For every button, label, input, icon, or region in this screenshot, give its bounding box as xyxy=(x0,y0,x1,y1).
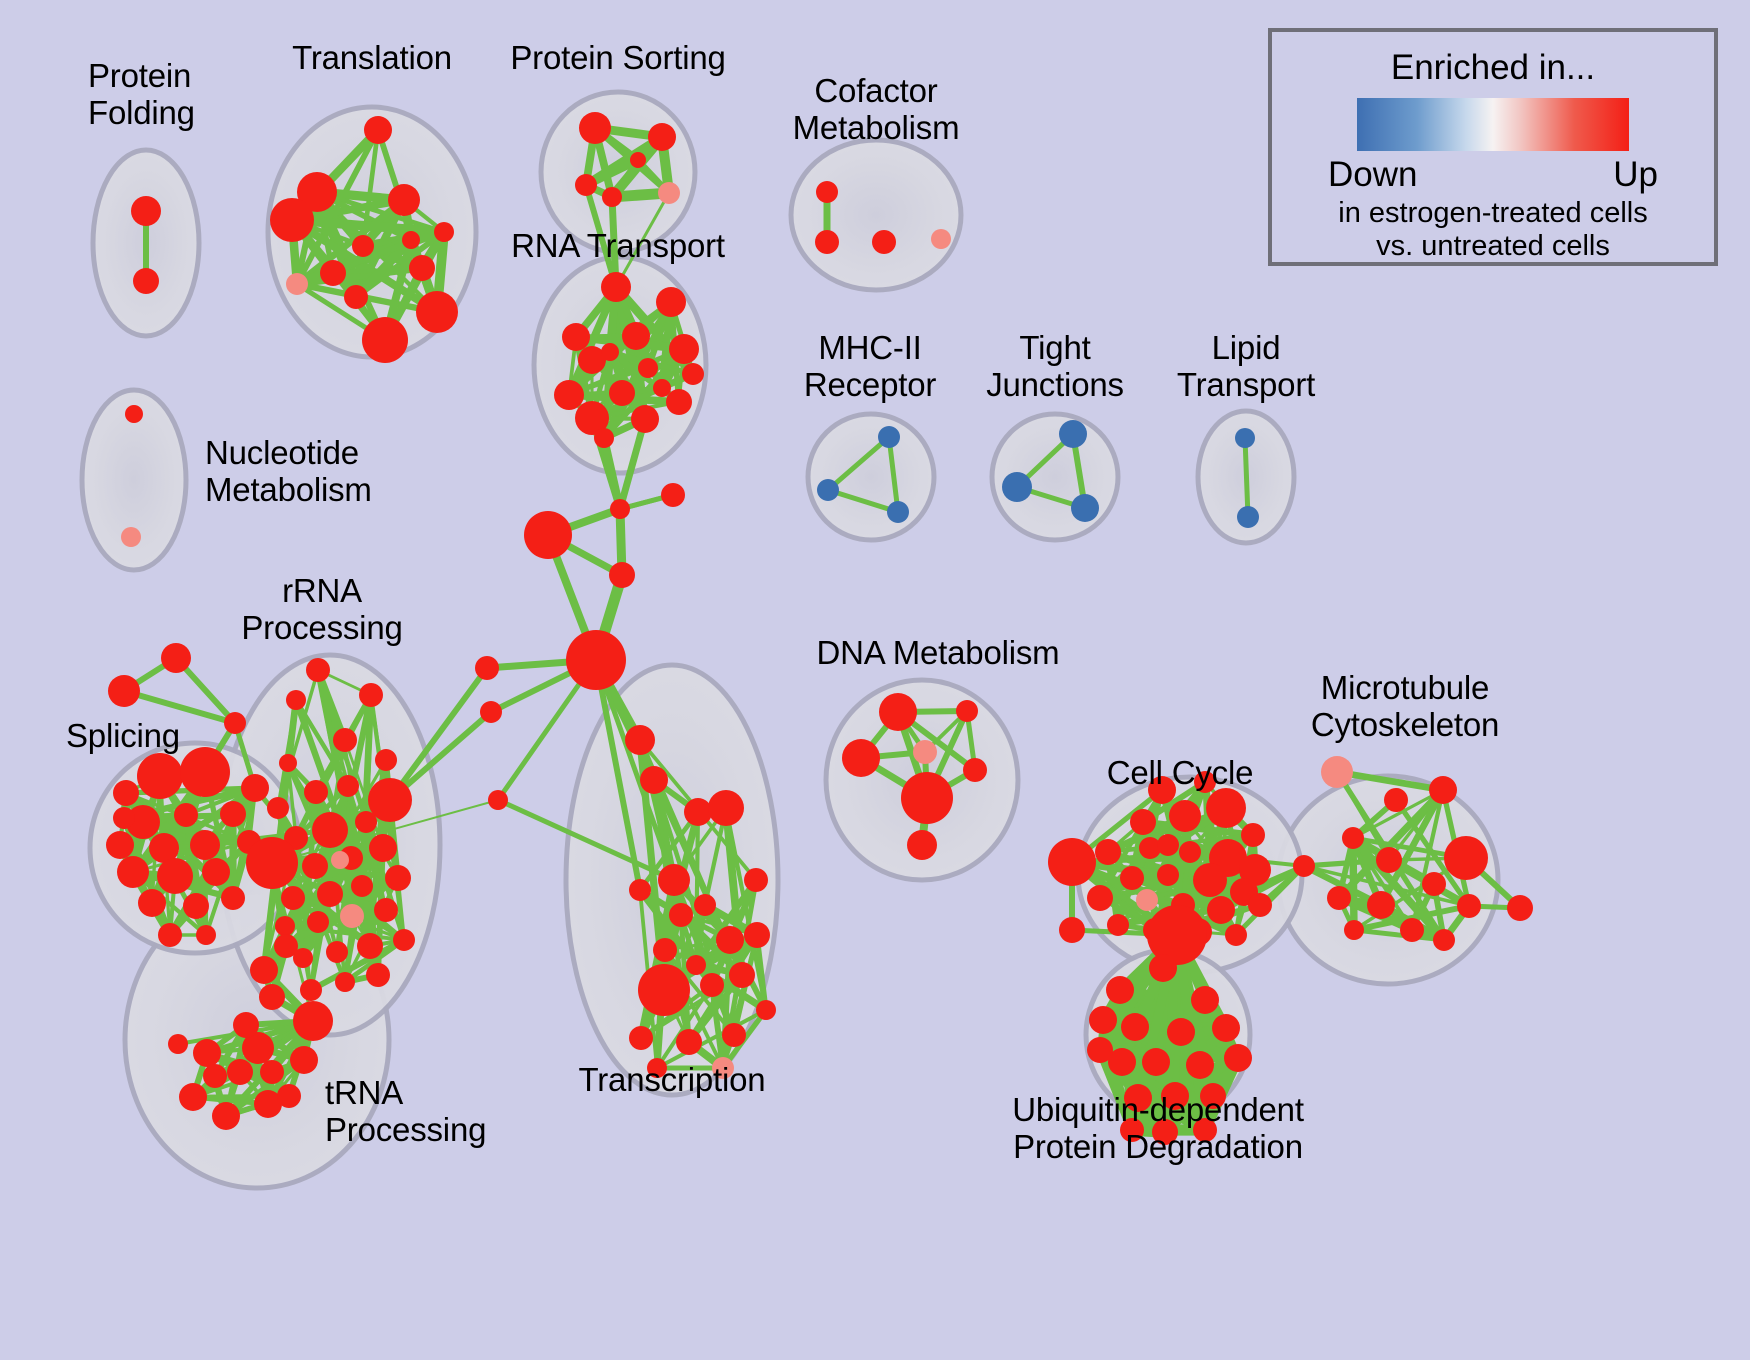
cluster-label-cofactor-metabolism: Cofactor Metabolism xyxy=(793,73,960,147)
network-node xyxy=(1241,823,1265,847)
network-node xyxy=(416,291,458,333)
network-node xyxy=(374,898,398,922)
network-node xyxy=(121,527,141,547)
network-node xyxy=(602,187,622,207)
network-node xyxy=(1087,885,1113,911)
network-node xyxy=(203,1064,227,1088)
network-node xyxy=(601,272,631,302)
legend-title: Enriched in... xyxy=(1391,48,1595,88)
network-node xyxy=(1107,914,1129,936)
network-node xyxy=(317,881,343,907)
network-node xyxy=(117,856,149,888)
network-node xyxy=(658,182,680,204)
network-node xyxy=(202,858,230,886)
network-node xyxy=(744,868,768,892)
network-node xyxy=(488,790,508,810)
network-node xyxy=(312,812,348,848)
network-node xyxy=(1433,929,1455,951)
network-node xyxy=(1059,917,1085,943)
network-node xyxy=(653,938,677,962)
cluster-label-ubiquitin-protein-degradation: Ubiquitin-dependent Protein Degradation xyxy=(1012,1092,1304,1166)
network-node xyxy=(1293,855,1315,877)
network-node xyxy=(878,426,900,448)
legend-caption: in estrogen-treated cells vs. untreated … xyxy=(1338,197,1648,262)
network-node xyxy=(956,700,978,722)
network-node xyxy=(293,1001,333,1041)
network-node xyxy=(366,963,390,987)
network-node xyxy=(656,287,686,317)
cluster-label-microtubule-cytoskeleton: Microtubule Cytoskeleton xyxy=(1311,670,1499,744)
cluster-hull-cofactor-metabolism xyxy=(791,140,961,290)
network-node xyxy=(183,893,209,919)
network-node xyxy=(1342,827,1364,849)
cluster-label-mhc-ii-receptor: MHC-II Receptor xyxy=(804,330,936,404)
cluster-label-protein-folding: Protein Folding xyxy=(88,58,195,132)
network-node xyxy=(708,790,744,826)
network-node xyxy=(609,562,635,588)
cluster-label-trna-processing: tRNA Processing xyxy=(325,1075,486,1149)
network-node xyxy=(270,198,314,242)
network-node xyxy=(1321,756,1353,788)
network-node xyxy=(676,1029,702,1055)
network-node xyxy=(369,834,397,862)
network-node xyxy=(281,886,305,910)
network-node xyxy=(744,922,770,948)
network-node xyxy=(212,1102,240,1130)
network-node xyxy=(1191,986,1219,1014)
network-node xyxy=(756,1000,776,1020)
network-node xyxy=(1225,924,1247,946)
network-node xyxy=(1087,1037,1113,1063)
network-node xyxy=(1048,838,1096,886)
network-node xyxy=(340,904,364,928)
network-node xyxy=(106,831,134,859)
network-node xyxy=(279,754,297,772)
network-node xyxy=(625,725,655,755)
network-node xyxy=(138,889,166,917)
network-node xyxy=(669,903,693,927)
network-node xyxy=(729,962,755,988)
network-node xyxy=(682,363,704,385)
network-node xyxy=(913,740,937,764)
network-node xyxy=(1089,1006,1117,1034)
network-node xyxy=(300,979,322,1001)
network-node xyxy=(355,811,377,833)
network-node xyxy=(1248,893,1272,917)
network-node xyxy=(648,123,676,151)
network-node xyxy=(277,1084,301,1108)
network-node xyxy=(274,934,298,958)
network-node xyxy=(352,235,374,257)
network-node xyxy=(357,933,383,959)
network-node xyxy=(694,894,716,916)
network-node xyxy=(638,964,690,1016)
network-node xyxy=(306,658,330,682)
network-node xyxy=(817,479,839,501)
network-node xyxy=(658,864,690,896)
network-node xyxy=(907,830,937,860)
network-node xyxy=(638,358,658,378)
network-node xyxy=(1384,788,1408,812)
network-edge xyxy=(1245,438,1248,517)
network-node xyxy=(1376,847,1402,873)
network-edge xyxy=(1353,838,1354,930)
network-node xyxy=(375,749,397,771)
network-node xyxy=(1157,834,1179,856)
network-node xyxy=(1344,920,1364,940)
network-node xyxy=(640,766,668,794)
network-node xyxy=(304,780,328,804)
network-node xyxy=(575,174,597,196)
network-node xyxy=(337,775,359,797)
cluster-label-rrna-processing: rRNA Processing xyxy=(241,573,402,647)
network-node xyxy=(609,380,635,406)
network-node xyxy=(364,116,392,144)
network-node xyxy=(1207,896,1235,924)
network-node xyxy=(661,483,685,507)
network-node xyxy=(480,701,502,723)
network-node xyxy=(963,758,987,782)
network-node xyxy=(157,858,193,894)
legend-panel: Enriched in... Down Up in estrogen-treat… xyxy=(1268,28,1718,266)
network-figure: Protein FoldingTranslationProtein Sortin… xyxy=(0,0,1750,1360)
network-node xyxy=(131,196,161,226)
network-node xyxy=(1327,886,1351,910)
network-node xyxy=(158,923,182,947)
network-node xyxy=(241,774,269,802)
network-node xyxy=(193,1039,221,1067)
network-node xyxy=(174,803,198,827)
cluster-label-cell-cycle: Cell Cycle xyxy=(1107,755,1254,792)
network-node xyxy=(669,334,699,364)
network-node xyxy=(872,230,896,254)
cluster-label-splicing: Splicing xyxy=(66,718,180,755)
network-node xyxy=(331,851,349,869)
network-node xyxy=(931,229,951,249)
network-node xyxy=(1457,894,1481,918)
network-node xyxy=(622,322,650,350)
network-node xyxy=(1400,918,1424,942)
network-node xyxy=(409,255,435,281)
network-node xyxy=(190,830,220,860)
network-node xyxy=(629,879,651,901)
network-node xyxy=(388,184,420,216)
cluster-label-protein-sorting: Protein Sorting xyxy=(510,40,725,77)
network-node xyxy=(1235,428,1255,448)
network-node xyxy=(842,739,880,777)
cluster-hull-mhc-ii-receptor xyxy=(808,414,934,540)
network-node xyxy=(275,916,295,936)
network-node xyxy=(221,886,245,910)
network-node xyxy=(1212,1014,1240,1042)
network-node xyxy=(290,1046,318,1074)
cluster-label-lipid-transport: Lipid Transport xyxy=(1177,330,1315,404)
network-node xyxy=(631,405,659,433)
network-node xyxy=(1169,800,1201,832)
network-node xyxy=(344,285,368,309)
network-node xyxy=(700,973,724,997)
network-node xyxy=(566,630,626,690)
network-node xyxy=(594,428,614,448)
network-node xyxy=(1422,872,1446,896)
network-node xyxy=(224,712,246,734)
network-node xyxy=(137,753,183,799)
network-node xyxy=(233,1012,259,1038)
cluster-label-rna-transport: RNA Transport xyxy=(511,228,725,265)
network-node xyxy=(1179,841,1201,863)
network-node xyxy=(307,911,329,933)
legend-low-label: Down xyxy=(1328,155,1417,195)
cluster-label-transcription: Transcription xyxy=(579,1062,766,1099)
network-node xyxy=(475,656,499,680)
network-node xyxy=(133,268,159,294)
network-node xyxy=(1071,494,1099,522)
network-node xyxy=(359,683,383,707)
network-node xyxy=(1130,809,1156,835)
network-node xyxy=(113,807,135,829)
network-node xyxy=(684,798,712,826)
network-node xyxy=(1136,889,1158,911)
network-node xyxy=(168,1034,188,1054)
network-node xyxy=(362,317,408,363)
network-node xyxy=(260,1060,284,1084)
network-node xyxy=(815,230,839,254)
network-node xyxy=(666,389,692,415)
network-node xyxy=(653,379,671,397)
network-node xyxy=(816,181,838,203)
network-node xyxy=(250,956,278,984)
network-node xyxy=(610,499,630,519)
network-node xyxy=(879,693,917,731)
network-node xyxy=(1095,839,1121,865)
legend-high-label: Up xyxy=(1613,155,1658,195)
network-node xyxy=(1206,788,1246,828)
network-node xyxy=(1429,776,1457,804)
network-node xyxy=(1507,895,1533,921)
network-node xyxy=(887,501,909,523)
network-node xyxy=(180,747,230,797)
network-node xyxy=(1193,863,1227,897)
network-node xyxy=(629,1026,653,1050)
network-node xyxy=(901,772,953,824)
network-node xyxy=(1002,472,1032,502)
network-node xyxy=(385,865,411,891)
network-node xyxy=(326,941,348,963)
network-node xyxy=(113,780,139,806)
network-node xyxy=(1157,864,1179,886)
network-node xyxy=(1106,976,1134,1004)
network-node xyxy=(333,728,357,752)
network-node xyxy=(716,926,744,954)
legend-color-bar xyxy=(1357,98,1629,151)
legend-endpoints: Down Up xyxy=(1328,155,1658,195)
cluster-label-nucleotide-metabolism: Nucleotide Metabolism xyxy=(205,435,372,509)
network-node xyxy=(302,853,328,879)
network-node xyxy=(562,323,590,351)
network-node xyxy=(125,405,143,423)
network-node xyxy=(220,801,246,827)
cluster-label-dna-metabolism: DNA Metabolism xyxy=(817,635,1060,672)
network-node xyxy=(402,231,420,249)
cluster-label-translation: Translation xyxy=(292,40,452,77)
network-node xyxy=(351,875,373,897)
network-node xyxy=(1367,891,1395,919)
network-node xyxy=(1186,1051,1214,1079)
network-node xyxy=(1237,506,1259,528)
network-node xyxy=(1224,1044,1252,1072)
network-node xyxy=(722,1023,746,1047)
network-node xyxy=(554,380,584,410)
network-node xyxy=(524,511,572,559)
network-node xyxy=(630,152,646,168)
network-node xyxy=(286,273,308,295)
network-node xyxy=(601,343,619,361)
network-node xyxy=(686,955,706,975)
network-node xyxy=(196,925,216,945)
network-node xyxy=(1142,1048,1170,1076)
network-node xyxy=(286,690,306,710)
network-node xyxy=(1149,954,1177,982)
network-node xyxy=(320,260,346,286)
network-node xyxy=(1120,866,1144,890)
cluster-label-tight-junctions: Tight Junctions xyxy=(986,330,1124,404)
network-node xyxy=(267,797,289,819)
network-node xyxy=(179,1083,207,1111)
network-node xyxy=(579,112,611,144)
network-node xyxy=(259,984,285,1010)
network-node xyxy=(1059,420,1087,448)
network-node xyxy=(335,972,355,992)
network-node xyxy=(227,1059,253,1085)
network-node xyxy=(1121,1013,1149,1041)
network-node xyxy=(246,837,298,889)
network-node xyxy=(161,643,191,673)
network-node xyxy=(108,675,140,707)
network-node xyxy=(434,222,454,242)
network-node xyxy=(1167,1018,1195,1046)
network-node xyxy=(1444,836,1488,880)
network-node xyxy=(393,929,415,951)
